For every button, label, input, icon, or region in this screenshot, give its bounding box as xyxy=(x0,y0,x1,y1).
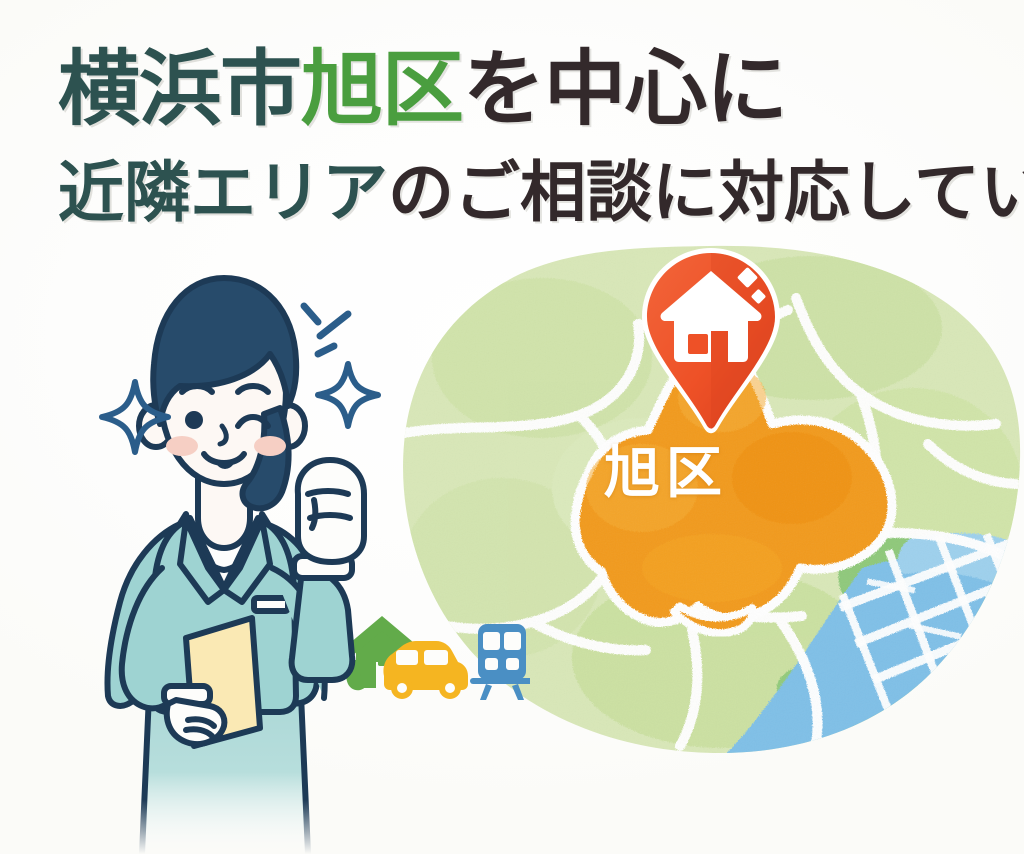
sparkle-icon-left xyxy=(98,378,172,456)
train-icon xyxy=(470,624,530,700)
burst-lines-icon xyxy=(304,306,348,354)
ward-label: 旭区 xyxy=(604,428,728,509)
sparkle-left-svg xyxy=(98,378,172,456)
heading-line-2-suffix: のご相談に対応しています xyxy=(388,155,1024,229)
heading-line-2: 近隣エリアのご相談に対応しています xyxy=(58,156,1024,228)
heading-line-1: 横浜市旭区を中心に xyxy=(58,46,787,134)
heading-area-name: 近隣エリア xyxy=(58,155,388,229)
map-pin-svg xyxy=(640,246,782,436)
map-pin-house[interactable] xyxy=(640,246,782,436)
heading-ward-name: 旭区 xyxy=(301,44,463,135)
sparkle-icon-right xyxy=(282,290,392,430)
heading-city-name: 横浜市 xyxy=(58,44,301,135)
sparkle-star-icon xyxy=(318,364,378,426)
hero-banner: 横浜市旭区を中心に 近隣エリアのご相談に対応しています xyxy=(0,0,1024,854)
blush-right xyxy=(254,436,286,456)
heading-line-1-suffix: を中心に xyxy=(463,44,787,135)
sparkle-right-svg xyxy=(282,290,392,430)
